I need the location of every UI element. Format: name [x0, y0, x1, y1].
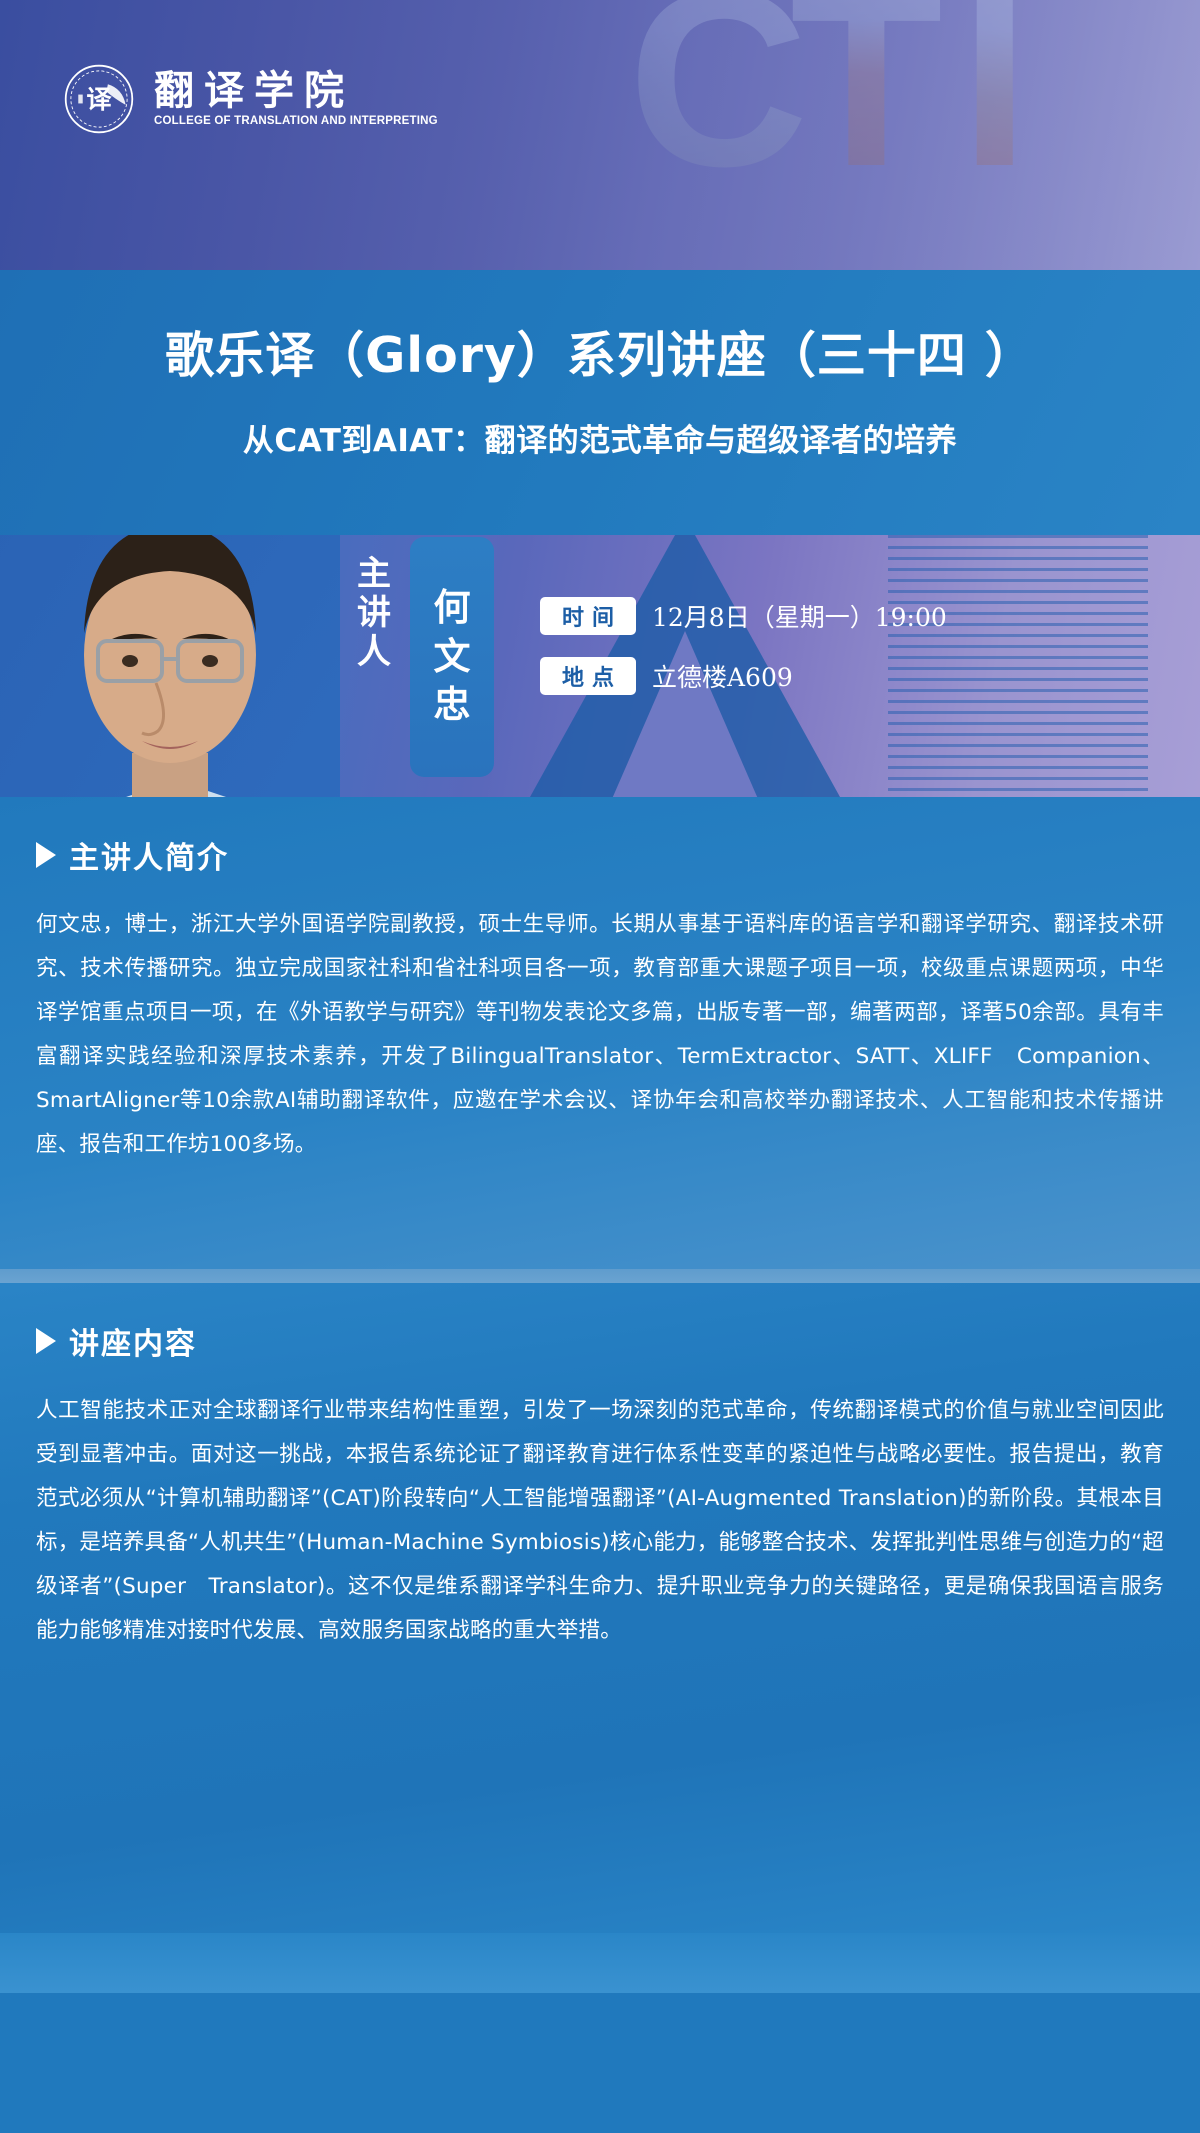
- time-value: 12月8日（星期一）19:00: [652, 598, 947, 634]
- section-divider: [0, 1269, 1200, 1283]
- triangle-bullet-icon: [36, 842, 56, 868]
- speaker-name-char-1: 何: [434, 586, 471, 630]
- speaker-bio-section: 主讲人简介 何文忠，博士，浙江大学外国语学院副教授，硕士生导师。长期从事基于语料…: [0, 797, 1200, 1269]
- speaker-name-char-2: 文: [434, 635, 471, 679]
- event-meta-row-location: 地点 立德楼A609: [540, 657, 947, 695]
- brand-lockup: 译 翻译学院 COLLEGE OF TRANSLATION AND INTERP…: [62, 62, 438, 136]
- location-value: 立德楼A609: [652, 658, 793, 694]
- lecture-content-heading: 讲座内容: [36, 1319, 1164, 1363]
- college-seal-icon: 译: [62, 62, 136, 136]
- lecture-poster: C T I 译 翻译学院 COLLEGE OF TRANSLATION AND …: [0, 0, 1200, 2133]
- speaker-bio-heading: 主讲人简介: [36, 833, 1164, 877]
- lecture-content-title: 讲座内容: [69, 1319, 197, 1363]
- lecture-content-paragraph: 人工智能技术正对全球翻译行业带来结构性重塑，引发了一场深刻的范式革命，传统翻译模…: [36, 1389, 1164, 1653]
- poster-footer-fill: [0, 1933, 1200, 1993]
- speaker-label-vertical: 主 讲 人: [352, 555, 396, 671]
- speaker-label-char-2: 讲: [357, 594, 391, 633]
- speaker-portrait-photo: [0, 535, 340, 797]
- event-meta-list: 时间 12月8日（星期一）19:00 地点 立德楼A609: [540, 597, 947, 695]
- brand-name-en: COLLEGE OF TRANSLATION AND INTERPRETING: [154, 116, 438, 128]
- lecture-content-section: 讲座内容 人工智能技术正对全球翻译行业带来结构性重塑，引发了一场深刻的范式革命，…: [0, 1283, 1200, 1933]
- speaker-bio-paragraph: 何文忠，博士，浙江大学外国语学院副教授，硕士生导师。长期从事基于语料库的语言学和…: [36, 903, 1164, 1167]
- title-band: 歌乐译（Glory）系列讲座（三十四 ） 从CAT到AIAT：翻译的范式革命与超…: [0, 270, 1200, 535]
- speaker-band: 主 讲 人 何 文 忠 时间 12月8日（星期一）19:00 地点 立德楼A60…: [0, 535, 1200, 797]
- speaker-label-char-3: 人: [357, 633, 391, 672]
- lecture-series-title: 歌乐译（Glory）系列讲座（三十四 ）: [0, 316, 1200, 387]
- event-meta-row-time: 时间 12月8日（星期一）19:00: [540, 597, 947, 635]
- brand-name-cn: 翻译学院: [154, 71, 438, 111]
- speaker-name-char-3: 忠: [434, 683, 471, 727]
- triangle-bullet-icon: [36, 1328, 56, 1354]
- speaker-name-box: 何 文 忠: [410, 537, 494, 777]
- location-tag-label: 地点: [540, 657, 636, 695]
- time-tag-label: 时间: [540, 597, 636, 635]
- speaker-bio-title: 主讲人简介: [69, 833, 229, 877]
- brand-text: 翻译学院 COLLEGE OF TRANSLATION AND INTERPRE…: [154, 71, 438, 128]
- poster-header: C T I 译 翻译学院 COLLEGE OF TRANSLATION AND …: [0, 0, 1200, 270]
- lecture-topic-subtitle: 从CAT到AIAT：翻译的范式革命与超级译者的培养: [0, 415, 1200, 460]
- speaker-label-char-1: 主: [357, 555, 391, 594]
